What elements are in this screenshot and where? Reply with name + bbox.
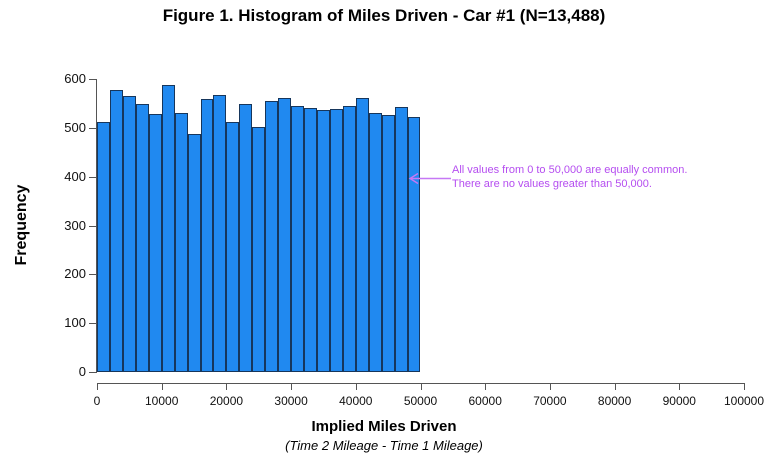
y-tick-label: 400 <box>48 170 86 183</box>
histogram-bar <box>278 98 291 372</box>
annotation-line-2: There are no values greater than 50,000. <box>452 177 752 191</box>
x-tick-mark <box>291 383 292 390</box>
x-tick-mark <box>485 383 486 390</box>
y-tick-mark <box>89 323 96 324</box>
x-tick-mark <box>679 383 680 390</box>
y-tick-mark <box>89 274 96 275</box>
histogram-bar <box>97 122 110 372</box>
histogram-bar <box>291 106 304 372</box>
histogram-bar <box>395 107 408 372</box>
histogram-bar <box>213 95 226 372</box>
histogram-bar <box>162 85 175 372</box>
x-tick-label: 100000 <box>704 394 768 408</box>
histogram-bar <box>330 109 343 372</box>
histogram-bar <box>369 113 382 372</box>
y-tick-label: 0 <box>48 365 86 378</box>
histogram-bar <box>175 113 188 372</box>
histogram-bar <box>226 122 239 372</box>
y-tick-mark <box>89 372 96 373</box>
page-title: Figure 1. Histogram of Miles Driven - Ca… <box>0 6 768 26</box>
x-tick-mark <box>550 383 551 390</box>
histogram-bar <box>149 114 162 372</box>
y-tick-label: 200 <box>48 267 86 280</box>
annotation-arrow-icon <box>406 172 452 185</box>
plot-area <box>97 79 744 372</box>
histogram-bar <box>201 99 214 372</box>
x-tick-mark <box>356 383 357 390</box>
y-tick-mark <box>89 177 96 178</box>
histogram-bar <box>136 104 149 372</box>
histogram-bar <box>304 108 317 372</box>
x-tick-mark <box>421 383 422 390</box>
y-tick-mark <box>89 226 96 227</box>
histogram-bar <box>239 104 252 372</box>
x-tick-mark <box>226 383 227 390</box>
histogram-bar <box>123 96 136 372</box>
histogram-bar <box>252 127 265 372</box>
histogram-bar <box>343 106 356 372</box>
x-tick-mark <box>744 383 745 390</box>
x-axis-title: Implied Miles Driven <box>0 418 768 435</box>
histogram-bar <box>317 110 330 372</box>
x-tick-mark <box>615 383 616 390</box>
annotation-line-1: All values from 0 to 50,000 are equally … <box>452 163 752 177</box>
y-axis-title: Frequency <box>13 165 31 285</box>
y-tick-mark <box>89 128 96 129</box>
x-axis-subtitle: (Time 2 Mileage - Time 1 Mileage) <box>0 438 768 453</box>
histogram-bar <box>188 134 201 372</box>
y-tick-label: 100 <box>48 316 86 329</box>
histogram-bar <box>356 98 369 372</box>
histogram-bar <box>408 117 421 372</box>
annotation-text: All values from 0 to 50,000 are equally … <box>452 163 752 191</box>
x-tick-mark <box>162 383 163 390</box>
y-tick-label: 500 <box>48 121 86 134</box>
x-tick-mark <box>97 383 98 390</box>
histogram-bar <box>382 115 395 372</box>
histogram-bar <box>110 90 123 372</box>
y-tick-label: 300 <box>48 219 86 232</box>
y-tick-label: 600 <box>48 72 86 85</box>
histogram-figure: Figure 1. Histogram of Miles Driven - Ca… <box>0 0 768 473</box>
y-tick-mark <box>89 79 96 80</box>
histogram-bar <box>265 101 278 372</box>
